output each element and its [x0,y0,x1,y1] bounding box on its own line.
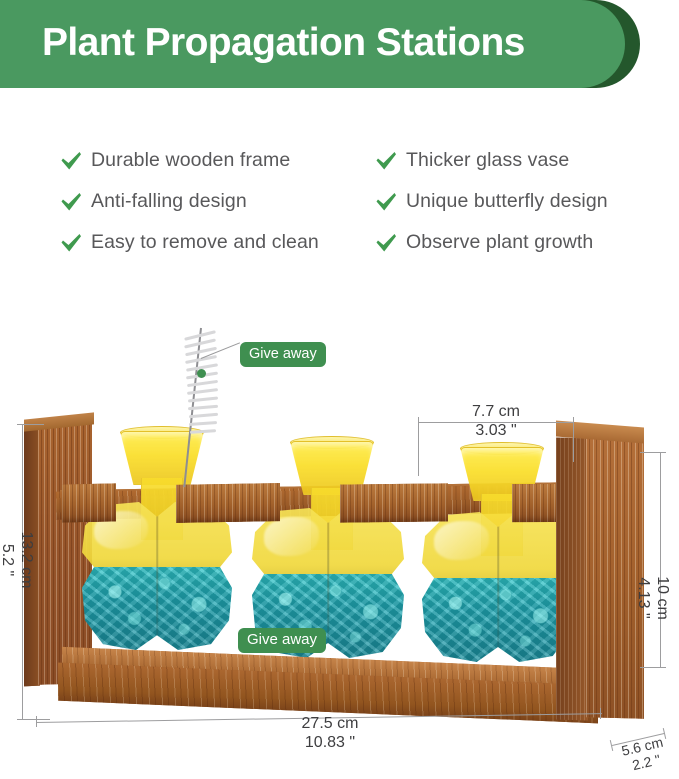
vessel-highlight [264,517,319,556]
feature-label: Durable wooden frame [91,149,290,172]
feature-item: Thicker glass vase [375,149,660,172]
feature-list: Durable wooden frame Thicker glass vase … [60,140,660,263]
frame-right-post-side [556,437,588,720]
header-banner: Plant Propagation Stations [0,0,679,96]
frame-shelf-block [340,483,448,522]
giveaway-badge-beads: Give away [238,628,326,653]
dimension-value-metric: 7.7 cm [418,402,574,421]
frame-shelf-block [62,483,116,522]
product-photo: Give away Give away [0,290,679,774]
butterfly-vessel-1 [82,502,232,650]
callout-anchor-dot [197,369,206,378]
vessel-seam [156,508,158,644]
check-mark-icon [60,192,82,212]
check-mark-icon [375,233,397,253]
check-mark-icon [60,151,82,171]
feature-label: Anti-falling design [91,190,247,213]
check-mark-icon [375,151,397,171]
feature-label: Observe plant growth [406,231,593,254]
feature-item: Unique butterfly design [375,190,660,213]
dimension-value-metric: 10 cm [653,548,672,648]
page-title: Plant Propagation Stations [42,15,612,71]
dimension-value-imperial: 10.83 " [250,733,410,752]
dimension-value-metric: 13.2 cm [17,500,36,620]
vessel-seam [497,518,499,656]
feature-item: Observe plant growth [375,231,660,254]
dimension-value-imperial: 5.2 " [0,500,17,620]
frame-shelf-block [176,483,280,523]
feature-label: Thicker glass vase [406,149,569,172]
check-mark-icon [60,233,82,253]
feature-label: Unique butterfly design [406,190,608,213]
giveaway-badge-brush: Give away [240,342,326,367]
vessel-seam [327,514,329,652]
feature-item: Easy to remove and clean [60,231,375,254]
feature-item: Durable wooden frame [60,149,375,172]
check-mark-icon [375,192,397,212]
dimension-value-imperial: 3.03 " [418,421,574,440]
vessel-highlight [434,521,489,560]
butterfly-vessel-3 [422,512,574,662]
dimension-value-metric: 27.5 cm [250,714,410,733]
feature-item: Anti-falling design [60,190,375,213]
cleaning-brush [184,328,218,450]
dimension-value-imperial: 4.13 " [634,548,653,648]
feature-label: Easy to remove and clean [91,231,319,254]
